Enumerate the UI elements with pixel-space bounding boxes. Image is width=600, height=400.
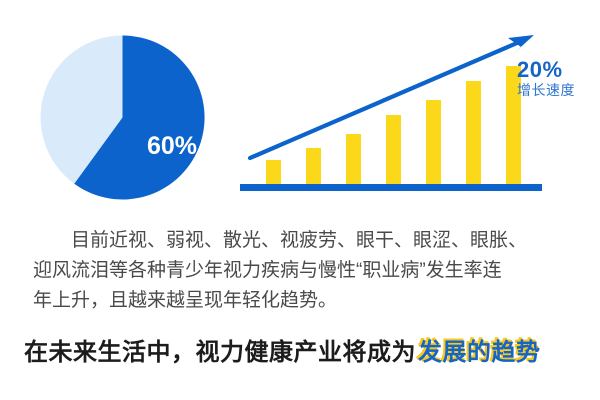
growth-rate-value: 20%: [517, 58, 600, 82]
body-paragraph-line-1: 目前近视、弱视、散光、视疲劳、眼干、眼涩、眼胀、: [33, 226, 573, 256]
chart-baseline: [240, 184, 542, 191]
growth-rate-label: 增长速度: [517, 83, 600, 98]
body-paragraph: 目前近视、弱视、散光、视疲劳、眼干、眼涩、眼胀、 迎风流泪等各种青少年视力疾病与…: [33, 226, 573, 316]
growth-callout: 20% 增长速度: [517, 58, 600, 98]
bar-chart-svg: [236, 22, 556, 202]
infographic-graphics: 60% 20% 增长速度: [0, 0, 600, 215]
bar-3: [346, 134, 361, 184]
headline-highlight-text: 发展的趋势: [418, 339, 541, 366]
body-paragraph-line-3: 年上升，且越来越呈现年轻化趋势。: [33, 286, 573, 316]
bar-2: [306, 148, 321, 184]
pie-chart-svg: [39, 34, 206, 201]
headline-plain-text: 在未来生活中，视力健康产业将成为: [24, 339, 416, 366]
pie-slice-value-label: 60%: [133, 134, 211, 159]
bar-chart: 20% 增长速度: [236, 22, 556, 202]
bar-1: [266, 160, 281, 184]
body-paragraph-line-2: 迎风流泪等各种青少年视力疾病与慢性“职业病”发生率连: [33, 256, 573, 286]
bar-6: [466, 81, 481, 184]
bar-5: [426, 100, 441, 184]
bar-4: [386, 115, 401, 184]
pie-chart: 60%: [39, 34, 206, 201]
headline: 在未来生活中，视力健康产业将成为发展的趋势: [24, 340, 584, 366]
